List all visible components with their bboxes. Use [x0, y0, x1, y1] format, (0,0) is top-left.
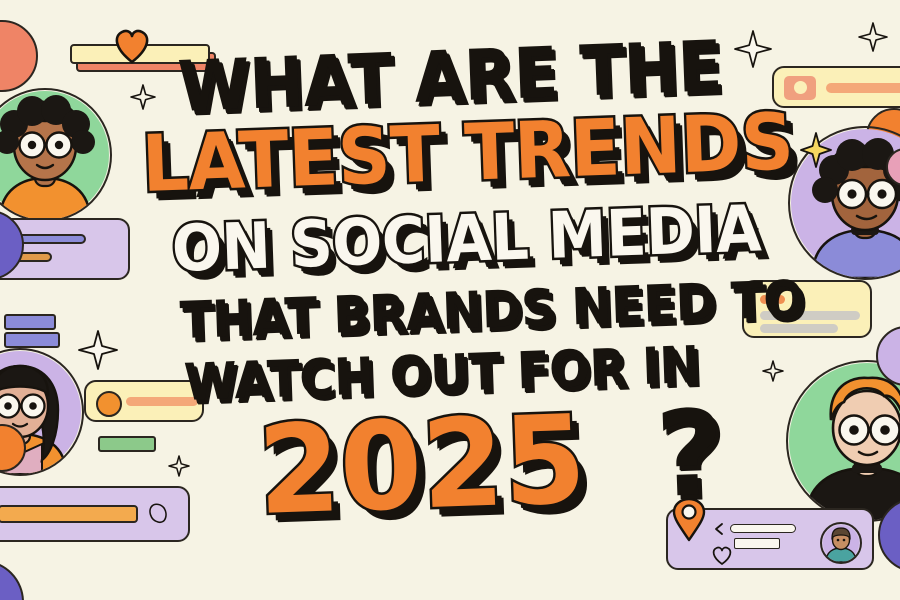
- send-icon[interactable]: [146, 502, 170, 533]
- card-input-field[interactable]: [0, 505, 138, 523]
- headline-line-3: ON SOCIAL MEDIA: [171, 197, 762, 282]
- message-bar-2: [760, 324, 838, 333]
- sparkle-icon: [168, 455, 190, 477]
- blob-coral-topleft: [0, 20, 38, 92]
- pill-periwinkle-b: [4, 332, 60, 348]
- headline-year: 2025: [256, 399, 587, 532]
- headline-line-2: LATEST TRENDS: [141, 103, 795, 204]
- message-bar-1: [760, 311, 860, 320]
- message-dot-3: [792, 295, 801, 304]
- avatar-top-left: [0, 88, 112, 222]
- headline-line-1: WHAT ARE THE: [177, 31, 723, 122]
- sparkle-icon: [735, 216, 759, 242]
- headline-line-5: WATCH OUT FOR IN: [183, 340, 700, 409]
- pill-periwinkle-a: [4, 314, 56, 330]
- sparkle-icon: [800, 132, 832, 168]
- sparkle-icon: [858, 22, 888, 52]
- pill-green-small: [98, 436, 156, 452]
- comment-bar-2: [734, 538, 780, 549]
- headline-line-4: THAT BRANDS NEED TO: [179, 274, 804, 347]
- sparkle-icon: [734, 30, 772, 68]
- sparkle-icon: [78, 330, 118, 370]
- card-notification-top-right[interactable]: [772, 66, 900, 108]
- reply-arrow-icon[interactable]: [712, 522, 726, 541]
- card-search-bar: [126, 397, 198, 406]
- heart-icon[interactable]: [710, 544, 734, 571]
- card-notification-bar: [826, 83, 900, 93]
- location-pin-icon[interactable]: [672, 498, 706, 547]
- message-dot-1: [760, 295, 769, 304]
- heart-icon: [112, 26, 152, 64]
- card-search-left[interactable]: [84, 380, 204, 422]
- message-dot-2: [776, 295, 785, 304]
- avatar-bottom-right: [786, 360, 900, 522]
- card-search-avatar-dot: [96, 391, 122, 417]
- blob-periwinkle-bottomleft: [0, 560, 24, 600]
- sparkle-icon: [130, 84, 156, 110]
- poster-canvas: WHAT ARE THE LATEST TRENDS ON SOCIAL MED…: [0, 0, 900, 600]
- card-message-right[interactable]: [742, 280, 872, 338]
- comment-bar-1: [730, 524, 796, 533]
- card-notification-thumb-dot: [794, 81, 807, 94]
- headline-question-mark: ?: [654, 394, 726, 514]
- sparkle-icon: [762, 360, 784, 382]
- card-input-bottom-left[interactable]: [0, 486, 190, 542]
- avatar-comment-thumb: [820, 522, 862, 564]
